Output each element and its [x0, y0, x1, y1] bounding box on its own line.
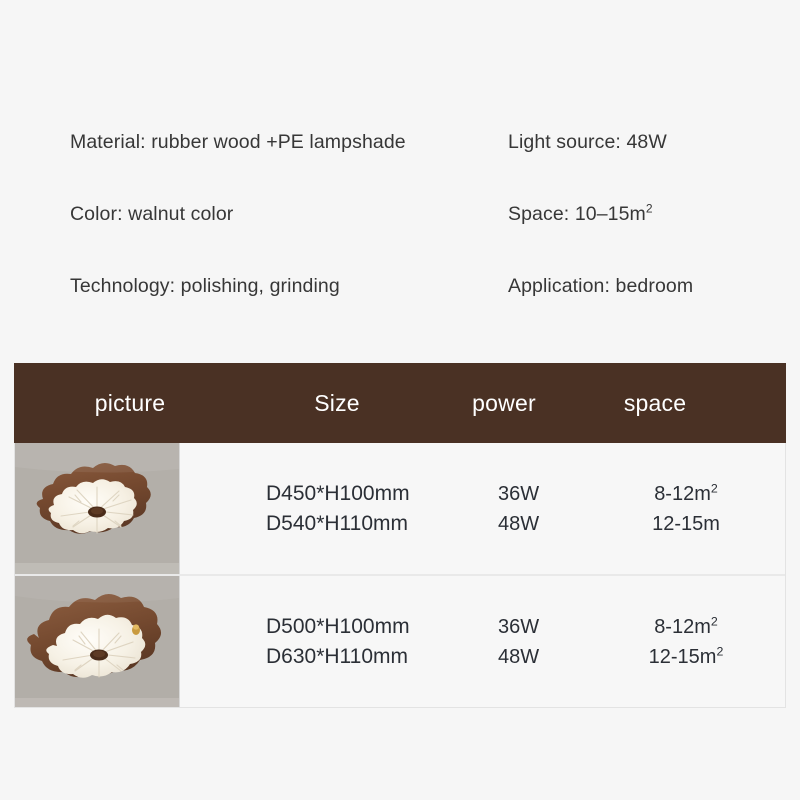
power-line-1: 36W: [498, 479, 539, 509]
space-line-1-value: 8-12m: [654, 483, 711, 505]
cell-space: 8-12m2 12-15m2: [626, 612, 746, 672]
spec-technology: Technology: polishing, grinding: [70, 271, 340, 301]
spec-space-text: Space: 10–15m: [508, 203, 646, 225]
cell-power: 36W 48W: [498, 479, 539, 539]
space-line-2-value: 12-15m: [652, 513, 720, 535]
row-data-cells: D450*H100mm D540*H110mm 36W 48W 8-12m2 1…: [180, 443, 785, 574]
cell-power: 36W 48W: [498, 612, 539, 672]
space-line-1: 8-12m2: [626, 612, 746, 642]
space-line-2-superscript: 2: [716, 644, 723, 658]
spec-space: Space: 10–15m2: [508, 199, 653, 229]
spec-color: Color: walnut color: [70, 199, 233, 229]
space-line-1-superscript: 2: [711, 481, 718, 495]
column-header-power: power: [428, 390, 580, 417]
space-line-2: 12-15m2: [626, 642, 746, 672]
space-line-2: 12-15m: [626, 509, 746, 539]
product-thumbnail-cell[interactable]: [15, 576, 180, 707]
spec-space-superscript: 2: [646, 202, 653, 216]
spec-row: Material: rubber wood +PE lampshade Ligh…: [0, 127, 800, 157]
table-row: D450*H100mm D540*H110mm 36W 48W 8-12m2 1…: [15, 443, 785, 574]
spec-row: Technology: polishing, grinding Applicat…: [0, 271, 800, 301]
power-line-1: 36W: [498, 612, 539, 642]
product-thumbnail-cell[interactable]: [15, 443, 180, 574]
product-variant-table: picture Size power space: [14, 363, 786, 708]
table-row: D500*H100mm D630*H110mm 36W 48W 8-12m2 1…: [15, 574, 785, 707]
spec-light-source: Light source: 48W: [508, 127, 667, 157]
spec-row: Color: walnut color Space: 10–15m2: [0, 199, 800, 229]
lamp-thumbnail-front: [15, 443, 179, 574]
power-line-2: 48W: [498, 509, 539, 539]
cell-space: 8-12m2 12-15m: [626, 479, 746, 539]
power-line-2: 48W: [498, 642, 539, 672]
table-header-row: picture Size power space: [14, 363, 786, 443]
spec-application-text: Application: bedroom: [508, 275, 693, 297]
spec-light-source-text: Light source: 48W: [508, 131, 667, 153]
space-line-1-superscript: 2: [711, 614, 718, 628]
lamp-thumbnail-angled: [15, 576, 179, 707]
spec-application: Application: bedroom: [508, 271, 693, 301]
size-line-2: D540*H110mm: [266, 509, 410, 539]
column-header-picture: picture: [14, 390, 246, 417]
space-line-2-value: 12-15m: [649, 646, 717, 668]
row-data-cells: D500*H100mm D630*H110mm 36W 48W 8-12m2 1…: [180, 576, 785, 707]
column-header-space: space: [580, 390, 730, 417]
size-line-1: D450*H100mm: [266, 479, 410, 509]
column-header-size: Size: [246, 390, 428, 417]
space-line-1-value: 8-12m: [654, 616, 711, 638]
space-line-1: 8-12m2: [626, 479, 746, 509]
cell-size: D500*H100mm D630*H110mm: [266, 612, 410, 672]
specification-block: Material: rubber wood +PE lampshade Ligh…: [0, 0, 800, 340]
size-line-1: D500*H100mm: [266, 612, 410, 642]
cell-size: D450*H100mm D540*H110mm: [266, 479, 410, 539]
size-line-2: D630*H110mm: [266, 642, 410, 672]
spec-material: Material: rubber wood +PE lampshade: [70, 127, 406, 157]
